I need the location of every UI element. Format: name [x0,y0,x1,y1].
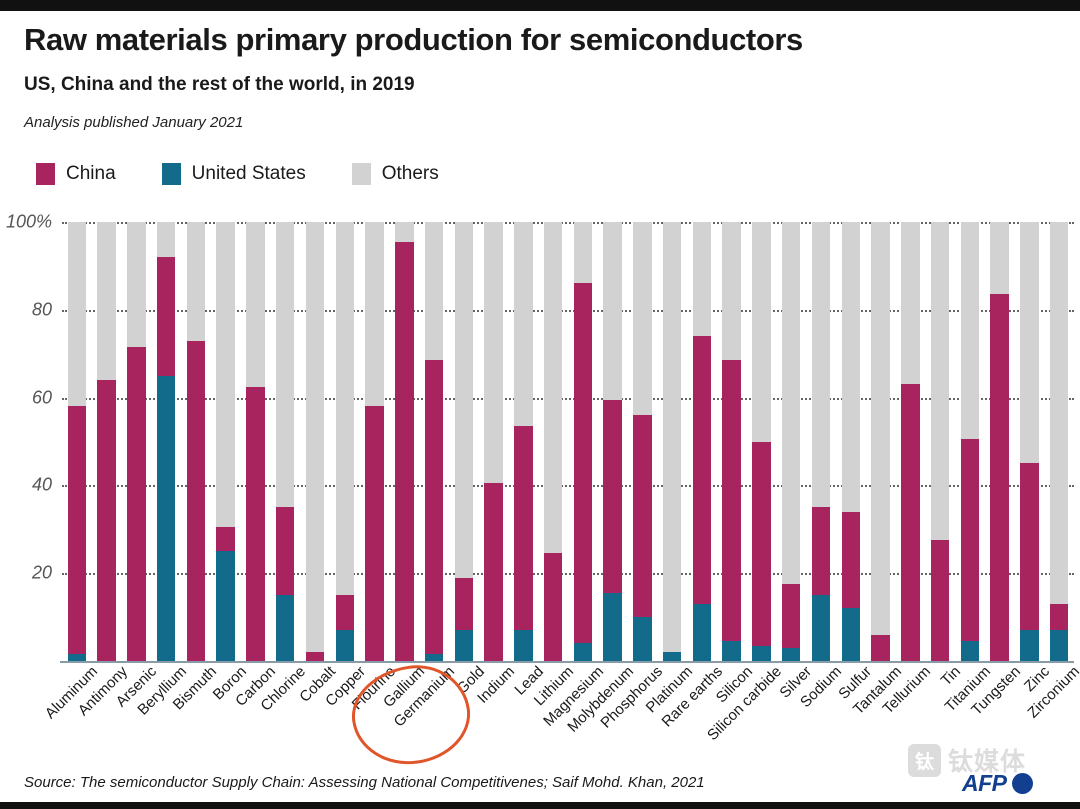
bar-segment-others [574,222,592,283]
bar-arsenic[interactable] [127,222,145,661]
bar-segment-others [484,222,502,483]
bar-germanium[interactable] [425,222,443,661]
bar-sulfur[interactable] [842,222,860,661]
legend-item-united-states[interactable]: United States [162,163,306,185]
legend-item-others[interactable]: Others [352,163,439,185]
page-title: Raw materials primary production for sem… [24,22,803,58]
legend-label: United States [192,163,306,185]
y-axis-tick-20: 20 [32,563,52,584]
bar-segment-china [216,527,234,551]
gridline-80 [62,310,1074,312]
bar-segment-others [931,222,949,540]
bar-segment-china [842,512,860,609]
bar-segment-united-states [1050,630,1068,661]
bar-segment-united-states [1020,630,1038,661]
bar-segment-china [395,242,413,661]
bar-phosphorus[interactable] [633,222,651,661]
bar-segment-china [68,406,86,654]
bar-segment-china [990,294,1008,661]
bar-segment-china [871,635,889,661]
bar-segment-united-states [574,643,592,661]
bar-segment-united-states [455,630,473,661]
bar-segment-china [306,652,324,661]
bar-segment-others [842,222,860,512]
bar-beryllium[interactable] [157,222,175,661]
bar-boron[interactable] [216,222,234,661]
bar-segment-china [752,442,770,646]
bar-segment-others [127,222,145,347]
bar-segment-others [871,222,889,635]
bar-zirconium[interactable] [1050,222,1068,661]
bar-segment-others [514,222,532,426]
bar-segment-others [722,222,740,360]
bar-segment-united-states [157,376,175,661]
bar-segment-china [1050,604,1068,630]
bar-segment-united-states [514,630,532,661]
bar-segment-others [752,222,770,442]
bar-segment-united-states [68,654,86,661]
bar-segment-others [1020,222,1038,463]
bar-bismuth[interactable] [187,222,205,661]
bar-segment-china [633,415,651,617]
legend-swatch-icon [162,163,181,185]
bar-carbon[interactable] [246,222,264,661]
bar-segment-others [97,222,115,380]
bar-segment-china [514,426,532,630]
bar-segment-china [1020,463,1038,630]
bar-antimony[interactable] [97,222,115,661]
bar-tungsten[interactable] [990,222,1008,661]
bar-segment-others [276,222,294,507]
afp-logo-text: AFP [962,770,1007,797]
bar-segment-united-states [752,646,770,661]
y-axis-tick-80: 80 [32,299,52,320]
chart-legend: ChinaUnited StatesOthers [36,163,485,185]
legend-label: Others [382,163,439,185]
bar-silver[interactable] [782,222,800,661]
page-subtitle: US, China and the rest of the world, in … [24,74,415,96]
bar-segment-china [603,400,621,593]
bar-segment-others [663,222,681,652]
chart-plot-area: 20406080100% [62,222,1074,661]
bar-silicon[interactable] [722,222,740,661]
bar-cobalt[interactable] [306,222,324,661]
bar-segment-china [722,360,740,641]
bar-segment-china [187,341,205,661]
bar-segment-china [97,380,115,661]
bar-segment-united-states [216,551,234,661]
bar-segment-united-states [603,593,621,661]
bottom-rule [0,802,1080,809]
bar-segment-others [425,222,443,360]
bar-segment-china [574,283,592,643]
bar-segment-china [157,257,175,376]
bar-segment-united-states [693,604,711,661]
bar-segment-others [961,222,979,439]
bar-segment-china [365,406,383,661]
bar-segment-united-states [336,630,354,661]
bar-rare-earths[interactable] [693,222,711,661]
bar-segment-united-states [663,652,681,661]
bar-segment-others [216,222,234,527]
afp-logo: AFP [962,770,1033,797]
bar-segment-united-states [782,648,800,661]
bar-segment-china [782,584,800,648]
bar-segment-united-states [961,641,979,661]
bar-copper[interactable] [336,222,354,661]
bar-segment-others [812,222,830,507]
bar-segment-others [157,222,175,257]
bar-segment-china [425,360,443,654]
source-note: Source: The semiconductor Supply Chain: … [24,774,705,791]
bar-segment-china [127,347,145,661]
bar-segment-china [336,595,354,630]
bar-segment-others [336,222,354,595]
bar-segment-others [901,222,919,384]
bar-segment-others [246,222,264,387]
bar-segment-china [246,387,264,661]
bar-segment-others [395,222,413,242]
bar-tellurium[interactable] [901,222,919,661]
bar-segment-united-states [633,617,651,661]
bar-segment-others [455,222,473,578]
bar-platinum[interactable] [663,222,681,661]
bar-segment-others [365,222,383,406]
bar-lithium[interactable] [544,222,562,661]
bar-segment-china [812,507,830,595]
afp-logo-dot-icon [1012,773,1033,794]
analysis-note: Analysis published January 2021 [24,114,243,131]
bar-flourine[interactable] [365,222,383,661]
legend-swatch-icon [36,163,55,185]
top-rule [0,0,1080,11]
y-axis-tick-40: 40 [32,475,52,496]
bar-aluminum[interactable] [68,222,86,661]
bar-segment-china [693,336,711,604]
bar-segment-others [544,222,562,553]
bar-segment-china [455,578,473,631]
bar-segment-others [990,222,1008,294]
bar-zinc[interactable] [1020,222,1038,661]
bar-segment-others [1050,222,1068,604]
bar-lead[interactable] [514,222,532,661]
bar-sodium[interactable] [812,222,830,661]
y-axis-tick-100: 100% [6,212,52,233]
bar-segment-china [961,439,979,641]
bar-tin[interactable] [931,222,949,661]
gridline-20 [62,573,1074,575]
bar-segment-others [68,222,86,406]
bar-segment-united-states [812,595,830,661]
bar-segment-united-states [276,595,294,661]
bar-segment-china [931,540,949,661]
gridline-40 [62,485,1074,487]
bar-chlorine[interactable] [276,222,294,661]
legend-item-china[interactable]: China [36,163,116,185]
bar-segment-china [276,507,294,595]
watermark-logo-icon: 钛 [908,744,941,777]
bar-segment-china [484,483,502,661]
bar-segment-others [782,222,800,584]
bar-segment-china [544,553,562,661]
bar-tantalum[interactable] [871,222,889,661]
bar-gold[interactable] [455,222,473,661]
bar-segment-others [603,222,621,400]
bar-segment-united-states [425,654,443,661]
bar-indium[interactable] [484,222,502,661]
gridline-100 [62,222,1074,224]
gridline-60 [62,398,1074,400]
bar-molybdenum[interactable] [603,222,621,661]
legend-label: China [66,163,116,185]
bar-titanium[interactable] [961,222,979,661]
bar-segment-others [693,222,711,336]
y-axis-tick-60: 60 [32,387,52,408]
bar-silicon-carbide[interactable] [752,222,770,661]
bar-magnesium[interactable] [574,222,592,661]
legend-swatch-icon [352,163,371,185]
bar-segment-others [633,222,651,415]
bar-segment-united-states [722,641,740,661]
bar-segment-china [901,384,919,661]
bar-segment-others [187,222,205,341]
bar-gallium[interactable] [395,222,413,661]
bar-segment-others [306,222,324,652]
bar-segment-united-states [842,608,860,661]
